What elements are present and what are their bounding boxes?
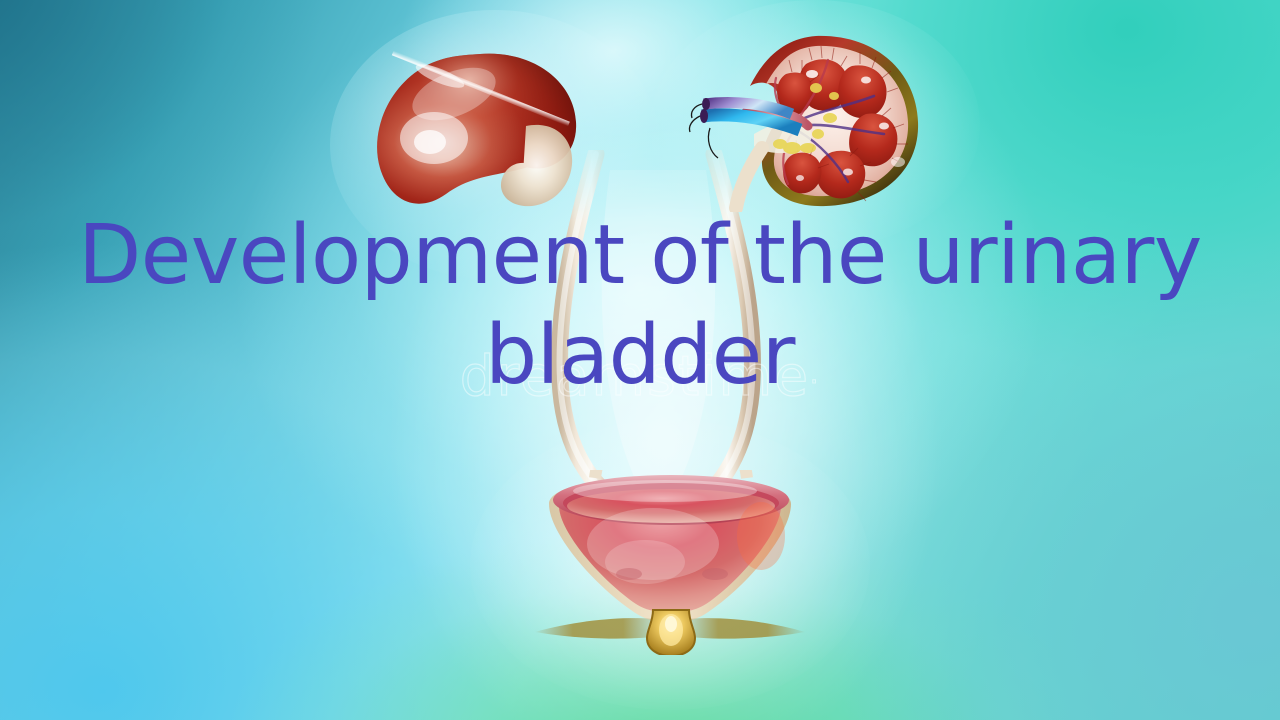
bladder-ureter-right-entry xyxy=(737,470,747,478)
bladder-illustration xyxy=(525,470,815,655)
title-line-1: Development of the urinary xyxy=(0,214,1280,298)
bladder-inner-gloss-2 xyxy=(605,540,685,584)
slide-title: Development of the urinary bladder xyxy=(0,214,1280,397)
bladder-rim-gloss xyxy=(573,480,757,502)
kidney-right-illustration xyxy=(688,30,933,212)
ureteral-orifice-left xyxy=(616,568,642,580)
bladder-ureter-left-entry xyxy=(595,470,605,478)
title-line-2: bladder xyxy=(0,314,1280,398)
renal-vein-lumen xyxy=(700,109,708,123)
ureter-stub xyxy=(736,148,762,208)
renal-vein-upper-lumen xyxy=(702,98,710,110)
kidney-left-specular-core xyxy=(414,130,446,154)
urethra-core xyxy=(665,616,677,632)
renal-pyramid-4 xyxy=(817,151,866,199)
pelvic-wing-right xyxy=(681,618,805,638)
ureteral-orifice-right xyxy=(702,568,728,580)
pelvic-wing-left xyxy=(535,618,661,638)
slide-canvas: dreamstime. Development of the urinary b… xyxy=(0,0,1280,720)
bladder-edge-glow xyxy=(737,502,785,570)
